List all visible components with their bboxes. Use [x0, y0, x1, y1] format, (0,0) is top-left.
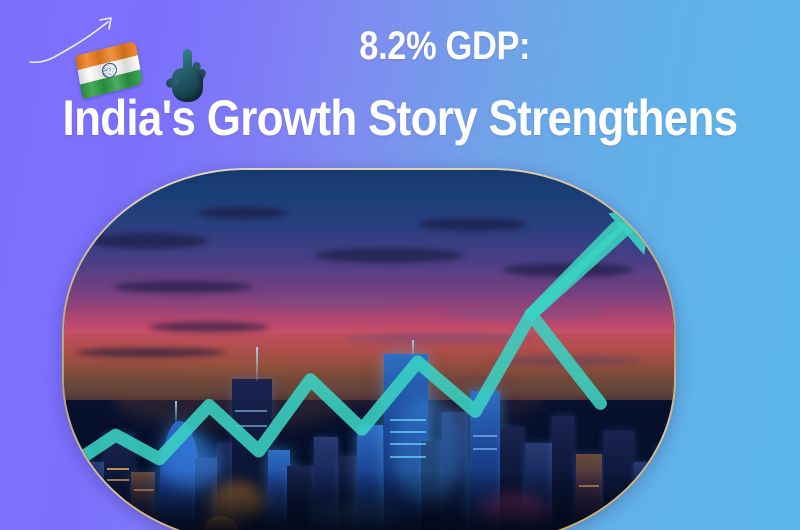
growth-arrow-overlay	[64, 170, 674, 530]
poster-canvas: 8.2% GDP: India's Growth Story Strengthe…	[0, 0, 800, 530]
header: 8.2% GDP: India's Growth Story Strengthe…	[0, 0, 800, 160]
city-skyline-panel	[64, 170, 674, 530]
headline-top: 8.2% GDP:	[56, 26, 744, 68]
page-title: India's Growth Story Strengthens	[48, 92, 752, 144]
city-skyline-panel-frame	[62, 168, 676, 530]
